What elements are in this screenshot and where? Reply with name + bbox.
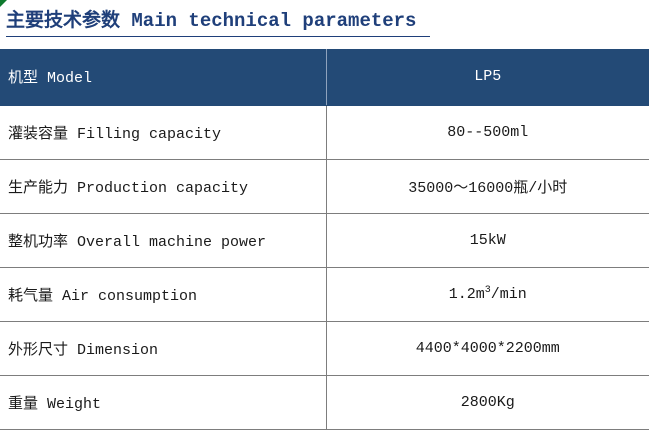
table-row: 灌装容量 Filling capacity 80--500ml — [0, 105, 649, 159]
value-suffix: /min — [491, 286, 527, 303]
page-title: 主要技术参数 Main technical parameters — [6, 9, 430, 33]
row-label: 生产能力 Production capacity — [0, 159, 326, 213]
page-title-block: 主要技术参数 Main technical parameters — [6, 9, 430, 37]
row-value: 1.2m3/min — [326, 267, 649, 321]
spec-sheet-page: 主要技术参数 Main technical parameters 机型 Mode… — [0, 0, 655, 428]
row-value: 15kW — [326, 213, 649, 267]
row-label: 整机功率 Overall machine power — [0, 213, 326, 267]
header-cell-value: LP5 — [326, 49, 649, 105]
header-cell-parameter: 机型 Model — [0, 49, 326, 105]
table-row: 生产能力 Production capacity 35000～16000瓶/小时 — [0, 159, 649, 213]
row-label: 外形尺寸 Dimension — [0, 321, 326, 375]
table-header-row: 机型 Model LP5 — [0, 49, 649, 105]
title-underline — [6, 36, 430, 37]
table-row: 整机功率 Overall machine power 15kW — [0, 213, 649, 267]
row-value: 4400*4000*2200mm — [326, 321, 649, 375]
row-label: 重量 Weight — [0, 375, 326, 429]
technical-parameters-table: 机型 Model LP5 灌装容量 Filling capacity 80--5… — [0, 49, 649, 430]
table-row: 耗气量 Air consumption 1.2m3/min — [0, 267, 649, 321]
table-row: 外形尺寸 Dimension 4400*4000*2200mm — [0, 321, 649, 375]
row-label: 灌装容量 Filling capacity — [0, 105, 326, 159]
row-label: 耗气量 Air consumption — [0, 267, 326, 321]
value-prefix: 1.2m — [449, 286, 485, 303]
table-row: 重量 Weight 2800Kg — [0, 375, 649, 429]
comment-marker-icon — [0, 0, 7, 7]
row-value: 35000～16000瓶/小时 — [326, 159, 649, 213]
row-value: 80--500ml — [326, 105, 649, 159]
row-value: 2800Kg — [326, 375, 649, 429]
